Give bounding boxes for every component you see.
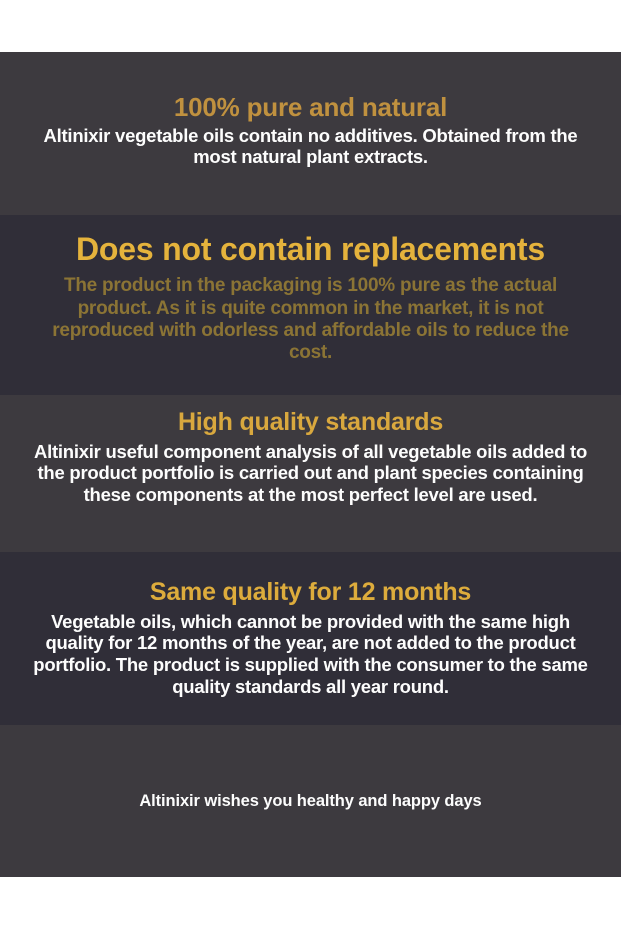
info-panel-same-quality-12-months: Same quality for 12 months Vegetable oil… bbox=[0, 552, 621, 725]
info-panel-no-replacements: Does not contain replacements The produc… bbox=[0, 215, 621, 395]
panel-body-same-quality-12-months: Vegetable oils, which cannot be provided… bbox=[12, 611, 609, 698]
panel-body-pure-and-natural: Altinixir vegetable oils contain no addi… bbox=[12, 125, 609, 169]
product-info-infographic: 100% pure and natural Altinixir vegetabl… bbox=[0, 52, 621, 877]
panel-heading-pure-and-natural: 100% pure and natural bbox=[12, 93, 609, 122]
info-panel-high-quality-standards: High quality standards Altinixir useful … bbox=[0, 395, 621, 552]
panel-heading-same-quality-12-months: Same quality for 12 months bbox=[12, 579, 609, 607]
info-panel-closing-wish: Altinixir wishes you healthy and happy d… bbox=[0, 725, 621, 877]
info-panel-pure-and-natural: 100% pure and natural Altinixir vegetabl… bbox=[0, 52, 621, 215]
panel-body-no-replacements: The product in the packaging is 100% pur… bbox=[12, 275, 609, 365]
panel-heading-no-replacements: Does not contain replacements bbox=[12, 232, 609, 267]
panel-heading-high-quality-standards: High quality standards bbox=[12, 409, 609, 437]
closing-wish-text: Altinixir wishes you healthy and happy d… bbox=[139, 792, 481, 811]
panel-body-high-quality-standards: Altinixir useful component analysis of a… bbox=[12, 441, 609, 506]
